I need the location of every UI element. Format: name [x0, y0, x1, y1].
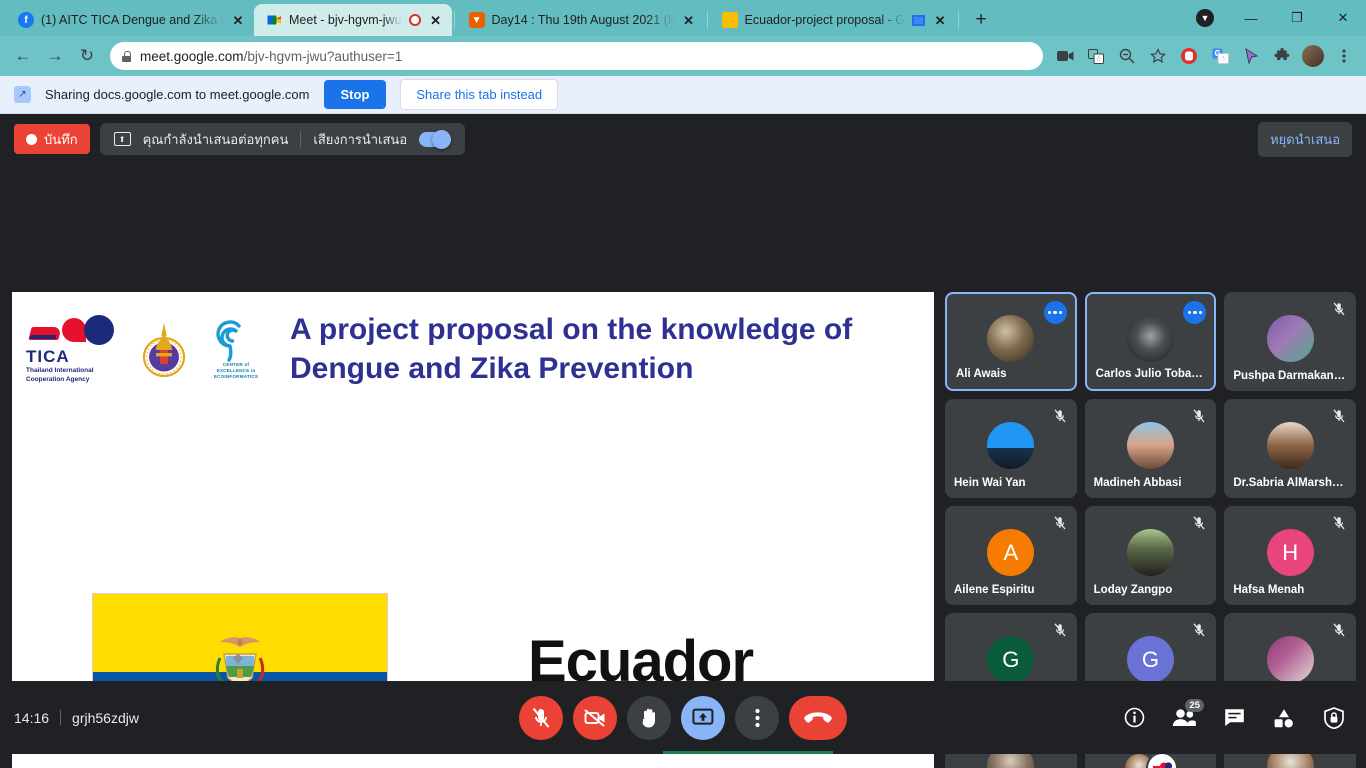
participant-name: Dr.Sabria AlMarsho...: [1233, 477, 1347, 489]
tab-recording-indicator-icon[interactable]: [409, 14, 421, 26]
avatar-initial: A: [987, 529, 1034, 576]
browser-tab-2[interactable]: Meet - bjv-hgvm-jwu ✕: [254, 4, 452, 36]
participant-tile[interactable]: HHafsa Menah: [1224, 506, 1356, 605]
meeting-info: 14:16 grjh56zdjw: [14, 710, 139, 726]
mic-off-icon: [1189, 513, 1209, 533]
avatar: [1127, 315, 1174, 362]
avatar: [987, 422, 1034, 469]
zoom-out-icon[interactable]: [1113, 42, 1141, 70]
adblock-icon[interactable]: [1175, 42, 1203, 70]
raise-hand-button[interactable]: [627, 696, 671, 740]
cast-icon[interactable]: [912, 15, 925, 26]
toolbar-icons: ं Gं: [1051, 42, 1358, 70]
profile-avatar[interactable]: [1299, 42, 1327, 70]
participant-name: Loday Zangpo: [1094, 584, 1208, 596]
chrome-menu-icon[interactable]: [1330, 42, 1358, 70]
stop-presenting-button[interactable]: หยุดนำเสนอ: [1258, 122, 1352, 157]
google-meet-app: บันทึก ⬆ คุณกำลังนำเสนอต่อทุกคน เสียงการ…: [0, 114, 1366, 754]
google-meet-icon: [266, 12, 282, 28]
presenting-status-pill: ⬆ คุณกำลังนำเสนอต่อทุกคน เสียงการนำเสนอ: [100, 123, 466, 155]
back-button[interactable]: ←: [8, 41, 38, 71]
present-now-button[interactable]: [681, 696, 725, 740]
participant-tile[interactable]: Pushpa Darmakant...: [1224, 292, 1356, 391]
slide-title: A project proposal on the knowledge of D…: [290, 310, 930, 388]
bookmark-star-icon[interactable]: [1144, 42, 1172, 70]
avatar: [1267, 315, 1314, 362]
mic-off-icon: [1050, 406, 1070, 426]
participant-name: Pushpa Darmakant...: [1233, 370, 1347, 382]
mic-off-icon: [1329, 406, 1349, 426]
present-screen-icon: ⬆: [114, 132, 131, 146]
tab-divider: [707, 11, 708, 29]
avatar: [987, 315, 1034, 362]
browser-tab-1[interactable]: f (1) AITC TICA Dengue and Zika P ✕: [6, 4, 254, 36]
divider: [60, 710, 61, 725]
meeting-code: grjh56zdjw: [72, 710, 139, 726]
record-dot-icon: [26, 134, 37, 145]
participant-tile[interactable]: Dr.Sabria AlMarsho...: [1224, 399, 1356, 498]
maximize-button[interactable]: ❐: [1274, 0, 1320, 36]
stop-sharing-button[interactable]: Stop: [324, 80, 387, 109]
participant-name: Carlos Julio Tobar ...: [1096, 368, 1206, 380]
participant-tile[interactable]: Hein Wai Yan: [945, 399, 1077, 498]
meet-right-icons: 25: [1116, 700, 1352, 736]
avatar: [1127, 529, 1174, 576]
url-text: meet.google.com/bjv-hgvm-jwu?authuser=1: [140, 49, 402, 64]
reload-button[interactable]: ↻: [72, 41, 102, 71]
tab-strip: f (1) AITC TICA Dengue and Zika P ✕ Meet…: [0, 0, 1366, 36]
meeting-details-button[interactable]: [1116, 700, 1152, 736]
record-button[interactable]: บันทึก: [14, 124, 90, 154]
mic-off-icon: [1329, 513, 1349, 533]
participant-tile[interactable]: Madineh Abbasi: [1085, 399, 1217, 498]
svg-text:ं: ं: [1097, 55, 1101, 63]
participant-name: Hein Wai Yan: [954, 477, 1068, 489]
browser-tab-4[interactable]: Ecuador-project proposal - G ✕: [710, 4, 957, 36]
cursor-icon[interactable]: [1237, 42, 1265, 70]
address-bar[interactable]: meet.google.com/bjv-hgvm-jwu?authuser=1: [110, 42, 1043, 70]
mic-off-icon: [1329, 620, 1349, 640]
participant-options-button[interactable]: [1183, 301, 1206, 324]
close-window-button[interactable]: ✕: [1320, 0, 1366, 36]
divider: [300, 131, 301, 148]
royal-thai-emblem-icon: [136, 318, 192, 380]
mic-off-icon: [1050, 620, 1070, 640]
share-this-tab-button[interactable]: Share this tab instead: [400, 79, 558, 110]
avatar: [1267, 636, 1314, 683]
translate-icon[interactable]: ं: [1082, 42, 1110, 70]
meet-bottom-bar: 14:16 grjh56zdjw: [0, 681, 1366, 754]
camera-off-button[interactable]: [573, 696, 617, 740]
tab-divider: [958, 11, 959, 29]
avatar-initial: H: [1267, 529, 1314, 576]
participant-options-button[interactable]: [1044, 301, 1067, 324]
tab-close-button[interactable]: ✕: [681, 14, 697, 27]
presentation-audio-label: เสียงการนำเสนอ: [313, 129, 407, 150]
mic-off-icon: [1189, 406, 1209, 426]
screen-share-icon: ↗: [14, 86, 31, 103]
tab-title: Meet - bjv-hgvm-jwu: [289, 13, 402, 27]
host-controls-button[interactable]: [1316, 700, 1352, 736]
tica-mark-icon: [26, 313, 122, 347]
screen-share-notification-bar: ↗ Sharing docs.google.com to meet.google…: [0, 76, 1366, 114]
browser-toolbar: ← → ↻ meet.google.com/bjv-hgvm-jwu?authu…: [0, 36, 1366, 76]
more-options-button[interactable]: [735, 696, 779, 740]
participant-tile[interactable]: Loday Zangpo: [1085, 506, 1217, 605]
drive-icon: ▼: [469, 12, 485, 28]
mic-off-button[interactable]: [519, 696, 563, 740]
show-everyone-button[interactable]: 25: [1166, 700, 1202, 736]
google-translate-icon[interactable]: Gं: [1206, 42, 1234, 70]
avatar-initial: G: [987, 636, 1034, 683]
tica-wordmark: TICA: [26, 347, 122, 367]
facebook-icon: f: [18, 12, 34, 28]
ecoinformatics-logo: CENTER ofEXCELLENCE inECOINFORMATICS: [206, 318, 266, 380]
download-icon[interactable]: ▼: [1182, 0, 1228, 36]
participant-tile[interactable]: AAilene Espiritu: [945, 506, 1077, 605]
avatar: [1267, 422, 1314, 469]
new-tab-button[interactable]: +: [967, 5, 995, 33]
mic-off-icon: [1050, 513, 1070, 533]
chat-button[interactable]: [1216, 700, 1252, 736]
ecoinformatics-subtitle: CENTER ofEXCELLENCE inECOINFORMATICS: [206, 362, 266, 380]
participant-tile[interactable]: Carlos Julio Tobar ...: [1085, 292, 1217, 391]
svg-text:ं: ं: [1221, 55, 1225, 63]
camera-icon[interactable]: [1051, 42, 1079, 70]
sharing-message: Sharing docs.google.com to meet.google.c…: [45, 87, 310, 102]
extensions-puzzle-icon[interactable]: [1268, 42, 1296, 70]
tab-close-button[interactable]: ✕: [428, 14, 444, 27]
activities-button[interactable]: [1266, 700, 1302, 736]
slides-icon: [722, 12, 738, 28]
avatar: [1127, 422, 1174, 469]
end-call-button[interactable]: [789, 696, 847, 740]
slide-logo-row: TICA Thailand InternationalCooperation A…: [12, 292, 934, 388]
tab-title: (1) AITC TICA Dengue and Zika P: [41, 13, 223, 27]
participant-count-badge: 25: [1185, 699, 1204, 712]
taskbar-indicator: [663, 751, 833, 754]
presenting-text: คุณกำลังนำเสนอต่อทุกคน: [143, 129, 289, 150]
tab-close-button[interactable]: ✕: [932, 14, 948, 27]
record-label: บันทึก: [44, 129, 78, 150]
presentation-toolbar: บันทึก ⬆ คุณกำลังนำเสนอต่อทุกคน เสียงการ…: [0, 114, 1366, 164]
call-controls: [519, 696, 847, 740]
mic-off-icon: [1329, 299, 1349, 319]
tica-logo: TICA Thailand InternationalCooperation A…: [26, 313, 122, 385]
participant-name: Hafsa Menah: [1233, 584, 1347, 596]
window-controls: ▼ — ❐ ✕: [1182, 0, 1366, 36]
tica-subtitle: Thailand InternationalCooperation Agency: [26, 367, 122, 385]
forward-button[interactable]: →: [40, 41, 70, 71]
lock-icon: [122, 51, 131, 62]
minimize-button[interactable]: —: [1228, 0, 1274, 36]
participant-name: Ali Awais: [956, 368, 1066, 380]
browser-window: f (1) AITC TICA Dengue and Zika P ✕ Meet…: [0, 0, 1366, 114]
participant-tile[interactable]: Ali Awais: [945, 292, 1077, 391]
tab-title: Day14 : Thu 19th August 2021 (K: [492, 13, 674, 27]
browser-tab-3[interactable]: ▼ Day14 : Thu 19th August 2021 (K ✕: [457, 4, 705, 36]
participant-name: Madineh Abbasi: [1094, 477, 1208, 489]
tab-close-button[interactable]: ✕: [230, 14, 246, 27]
tab-divider: [454, 11, 455, 29]
mic-off-icon: [1189, 620, 1209, 640]
tab-title: Ecuador-project proposal - G: [745, 13, 906, 27]
current-time: 14:16: [14, 710, 49, 726]
presentation-audio-toggle[interactable]: [419, 132, 451, 147]
spiral-icon: [206, 318, 256, 362]
participant-name: Ailene Espiritu: [954, 584, 1068, 596]
avatar-initial: G: [1127, 636, 1174, 683]
